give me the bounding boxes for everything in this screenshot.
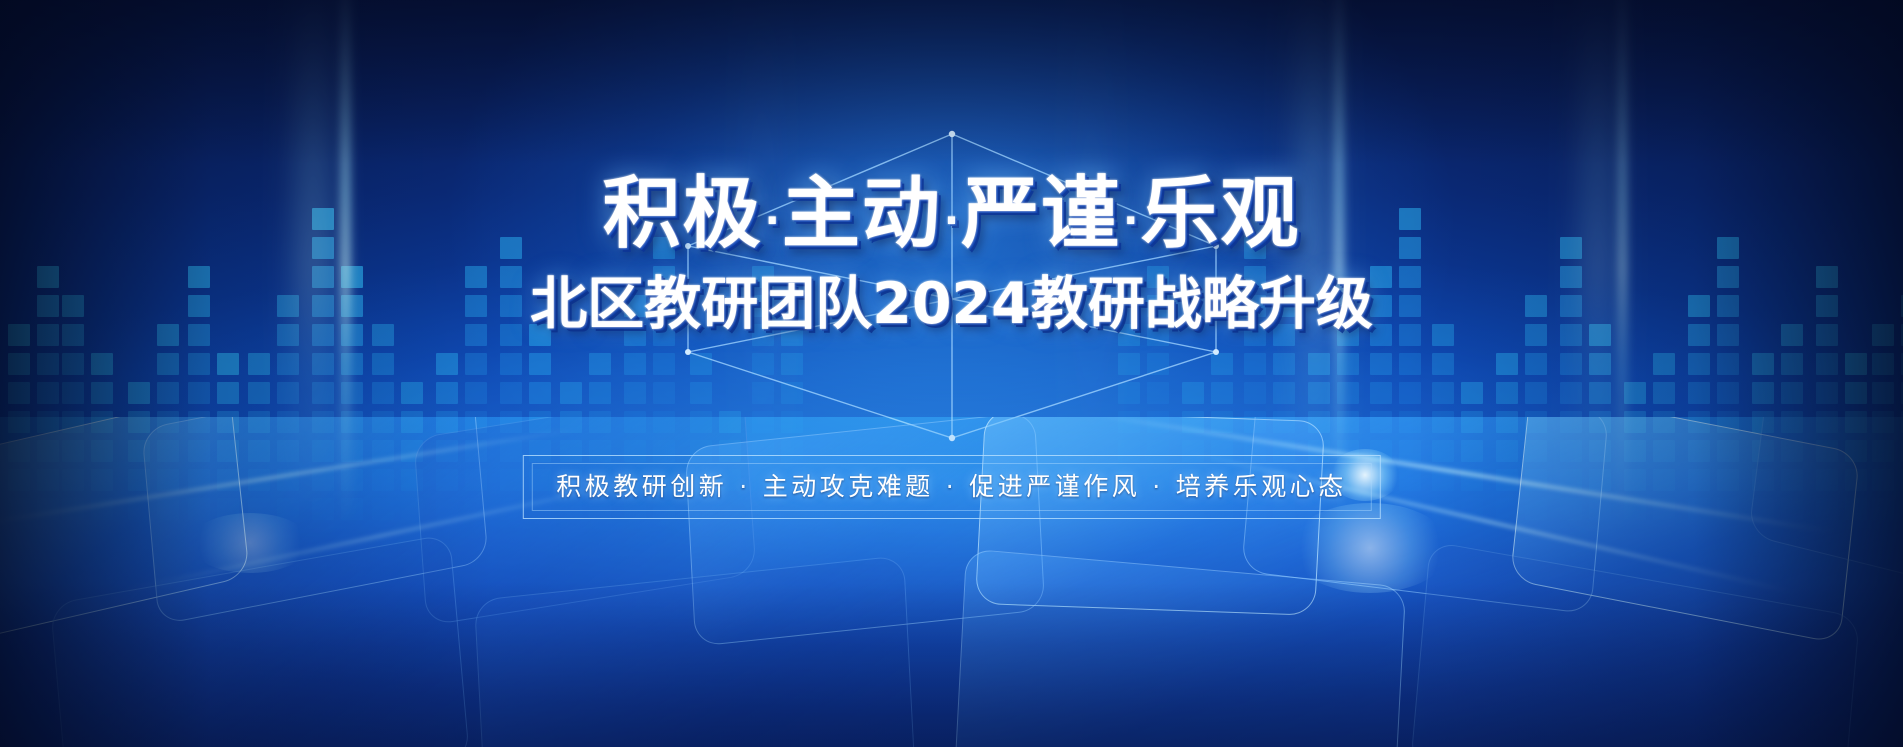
tagline-separator: · <box>1152 472 1163 501</box>
tagline-container: 积极教研创新·主动攻克难题·促进严谨作风·培养乐观心态 <box>522 455 1380 519</box>
subheadline: 北区教研团队2024教研战略升级 <box>0 272 1903 336</box>
headline-separator: · <box>944 198 959 244</box>
headline-word-1: 积极 <box>603 169 763 259</box>
headline-word-4: 乐观 <box>1140 169 1300 259</box>
headline-word-3: 严谨 <box>961 169 1121 259</box>
headline-separator: · <box>765 198 780 244</box>
tagline-item-1: 积极教研创新 <box>556 472 727 501</box>
tagline-item-3: 促进严谨作风 <box>969 472 1140 501</box>
headline-word-2: 主动 <box>782 169 942 259</box>
tagline: 积极教研创新·主动攻克难题·促进严谨作风·培养乐观心态 <box>556 472 1346 502</box>
tagline-separator: · <box>946 472 957 501</box>
banner-content: 积极·主动·严谨·乐观 北区教研团队2024教研战略升级 积极教研创新·主动攻克… <box>0 0 1903 747</box>
tagline-frame: 积极教研创新·主动攻克难题·促进严谨作风·培养乐观心态 <box>522 455 1380 519</box>
tagline-separator: · <box>739 472 750 501</box>
hero-banner: 积极·主动·严谨·乐观 北区教研团队2024教研战略升级 积极教研创新·主动攻克… <box>0 0 1903 747</box>
headline: 积极·主动·严谨·乐观 <box>0 172 1903 263</box>
tagline-item-2: 主动攻克难题 <box>763 472 934 501</box>
headline-separator: · <box>1123 198 1138 244</box>
tagline-item-4: 培养乐观心态 <box>1176 472 1347 501</box>
